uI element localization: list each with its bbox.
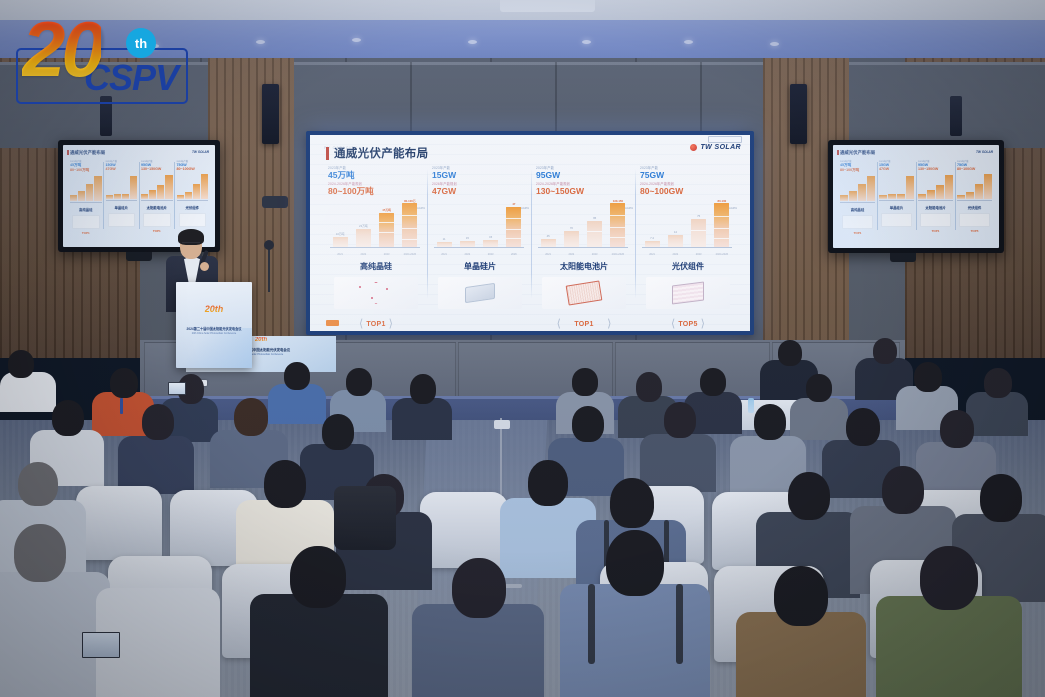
attendee-shoulders [0, 372, 56, 412]
x-tick: 2026 [504, 253, 524, 256]
attendee-head [8, 350, 34, 378]
attendee-head [142, 404, 174, 440]
attendee-head [290, 546, 346, 608]
x-tick: 2023 [377, 253, 397, 256]
attendee-shoulders [560, 584, 710, 697]
x-tick: 2024-2026 [712, 253, 732, 256]
slide-panel-wafer: 2023年产能 15GW 2026年产能规划 47GW CAGR% 11 15 … [428, 165, 532, 325]
tw-solar-mark-icon [690, 144, 697, 151]
tw-solar-wordmark: TW SOLAR [700, 144, 741, 151]
x-tick: 2021 [642, 253, 662, 256]
attendee-head [914, 362, 942, 392]
silicon-wafer-icon [881, 213, 912, 227]
slide-panel-polysilicon: 2023年产能 45万吨 2024-2026年产能规划 80~100万吨 CAG… [324, 165, 428, 325]
bar-value: 15 [489, 235, 492, 239]
podium-logo: 20th [205, 304, 224, 314]
loudspeaker-left [262, 84, 279, 144]
bar-value: 23万吨 [359, 224, 368, 228]
attendee-head [754, 404, 786, 440]
monitor-category: 光伏组件 [177, 205, 209, 210]
backpack-strap [676, 584, 683, 664]
x-tick: 2023 [585, 253, 605, 256]
monitor-brand: TW SOLAR [976, 150, 993, 154]
monitor-stand-right [890, 253, 916, 262]
slide-footer-chip [326, 320, 339, 326]
backpack [334, 486, 396, 550]
attendee-head [18, 462, 58, 506]
solar-cell-icon [143, 213, 171, 227]
slide-title: 通威光伏产能布局 [334, 145, 428, 161]
x-tick: 2023 [689, 253, 709, 256]
monitor-rank: TOP1 [141, 229, 173, 233]
attendee-head [14, 524, 66, 582]
paren-right: ⟩ [701, 320, 705, 329]
x-tick: 2022 [665, 253, 685, 256]
attendee-head [778, 340, 802, 366]
cspv-watermark-logo: CSPV 20 th [8, 4, 194, 108]
x-tick: 2024-2026 [608, 253, 628, 256]
logo-number: 20 [22, 10, 101, 88]
slide-panel-module: 2023年产能 75GW 2024-2026年产能规划 80~100GW CAG… [636, 165, 740, 325]
bar-value: 47 [512, 202, 515, 206]
attendee-shoulders [790, 398, 848, 440]
paren-left: ⟨ [359, 320, 363, 329]
attendee-shoulders [250, 594, 388, 697]
monitor-category: 单晶硅片 [106, 205, 138, 210]
panel-target-value: 80~100万吨 [328, 187, 424, 196]
paren-right: ⟩ [389, 320, 393, 329]
silicon-wafer-icon [438, 277, 522, 309]
downlight-icon [582, 40, 591, 44]
attendee-head [322, 414, 354, 450]
bar-value: 11 [443, 237, 446, 241]
attendee-head [452, 558, 506, 618]
monitor-target-value: 47GW [879, 167, 914, 171]
downlight-icon [770, 42, 779, 46]
polysilicon-icon [72, 215, 100, 229]
monitor-category: 太阳能电池片 [918, 205, 953, 210]
attendee-shoulders [966, 392, 1028, 436]
podium-title-cn: 2024第二十届中国太阳能光伏发电会议 [176, 326, 252, 331]
panel-bar-chart: CAGR% 11 15 15 47 2021 2022 [432, 199, 528, 251]
loudspeaker-right [790, 84, 807, 144]
solar-cell-icon [920, 213, 951, 227]
bar-value: 7.2 [650, 236, 654, 240]
monitor-rank: TOP1 [70, 231, 102, 235]
conference-photo: PV CAPACITY 通威光伏产能布局 TW SOLAR 2023年产能 45… [0, 0, 1045, 697]
podium: 20th 2024第二十届中国太阳能光伏发电会议 20th China Sola… [176, 282, 252, 368]
seat [420, 492, 508, 568]
attendee-shoulders [392, 398, 452, 440]
monitor-target-value: 80~100万吨 [70, 168, 102, 173]
attendee-head [788, 472, 830, 520]
monitor-brand: TW SOLAR [192, 150, 209, 154]
panel-target-value: 47GW [432, 187, 528, 196]
monitor-rank: TOP5 [957, 229, 992, 233]
loudspeaker-far-right [950, 96, 962, 136]
backpack-strap [588, 584, 595, 664]
attendee-head [806, 374, 832, 402]
rank-value: TOP5 [678, 321, 697, 328]
pv-module-icon [646, 277, 730, 309]
bar-value: 45万吨 [382, 208, 391, 212]
panel-category-name: 光伏组件 [640, 261, 736, 272]
monitor-target-value: 80~100GW [957, 167, 992, 171]
panel-rank-badge: ⟨ TOP5 全球前五 ⟩ [640, 313, 736, 331]
attendee-head [110, 368, 138, 398]
slide-title-group: 通威光伏产能布局 [326, 145, 428, 161]
attendee-head [264, 460, 306, 508]
monitor-stand-left [126, 252, 152, 261]
solar-cell-icon [542, 277, 626, 309]
downlight-icon [256, 40, 265, 44]
lanyard [120, 398, 123, 414]
attendee-head [346, 368, 372, 396]
logo-ordinal-badge: th [126, 28, 156, 58]
slide-panels: 2023年产能 45万吨 2024-2026年产能规划 80~100万吨 CAG… [324, 165, 740, 325]
attendee-head [664, 402, 696, 438]
polysilicon-icon [842, 215, 873, 229]
bar-value: 130-150 [613, 199, 623, 203]
paren-right: ⟩ [607, 320, 611, 329]
downlight-icon [468, 40, 477, 44]
slide-canvas: PV CAPACITY 通威光伏产能布局 TW SOLAR 2023年产能 45… [310, 135, 750, 331]
attendee-head [984, 368, 1012, 398]
attendee-shoulders [876, 596, 1022, 697]
phone-device [82, 632, 120, 658]
main-projection-screen: PV CAPACITY 通威光伏产能布局 TW SOLAR 2023年产能 45… [306, 131, 754, 335]
silicon-wafer-icon [108, 213, 136, 227]
bar-value: 10万吨 [336, 232, 345, 236]
panel-capacity-value: 45万吨 [328, 171, 424, 180]
paren-left: ⟨ [557, 320, 561, 329]
monitor-target-value: 130~150GW [141, 167, 173, 171]
attendee-head [940, 410, 974, 448]
monitor-category: 光伏组件 [957, 205, 992, 210]
side-monitor-right: 通威光伏产能布局 TW SOLAR 2023年产能 45万吨 80~100万吨 … [828, 140, 1004, 253]
monitor-target-value: 130~150GW [918, 167, 953, 171]
bar-value: 15 [466, 236, 469, 240]
panel-capacity-value: 95GW [536, 171, 632, 180]
mic-stand [268, 246, 270, 292]
attendee-head [234, 398, 268, 436]
x-tick: 2022 [561, 253, 581, 256]
attendee-head [528, 460, 568, 506]
x-tick: 2022 [353, 253, 373, 256]
attendee-head [572, 406, 604, 442]
rank-value: TOP1 [574, 321, 593, 328]
attendee-head [606, 530, 664, 596]
attendee-head [610, 478, 654, 528]
attendee-head [410, 374, 436, 404]
panel-target-value: 80~100GW [640, 187, 736, 196]
tw-solar-logo: TW SOLAR [690, 144, 741, 151]
x-tick: 2024-2026 [400, 253, 420, 256]
panel-rank-badge: ⟨ TOP1 全球电池出货量连续七年第一 ⟩ [536, 313, 632, 331]
panel-bar-chart: CAGR% 45 70 95 130-150 2021 2022 [536, 199, 632, 251]
downlight-icon [684, 40, 693, 44]
bar-value: 80-100 [718, 199, 727, 203]
bar-value: 45 [547, 234, 550, 238]
pv-module-icon [959, 213, 990, 227]
glasses-icon [182, 242, 200, 247]
x-tick: 2022 [457, 253, 477, 256]
title-accent-bar [326, 147, 329, 160]
attendee-head [636, 372, 662, 402]
attendee-head [700, 368, 726, 396]
floor-mic-head-icon [494, 420, 510, 429]
monitor-slide-title: 通威光伏产能布局 [840, 150, 875, 156]
attendee-head [920, 546, 978, 610]
attendee-head [572, 368, 598, 396]
monitor-target-value: 80~100万吨 [840, 168, 875, 173]
monitor-category: 单晶硅片 [879, 205, 914, 210]
panel-category-name: 单晶硅片 [432, 261, 528, 272]
attendee-shoulders [268, 384, 326, 424]
panel-capacity-value: 15GW [432, 171, 528, 180]
x-tick: 2023 [481, 253, 501, 256]
ceiling-projector [500, 0, 595, 12]
attendee-head [284, 362, 310, 390]
x-tick: 2021 [538, 253, 558, 256]
panel-rank-badge: ⟨ TOP1 全球第一 ⟩ [328, 313, 424, 331]
panel-capacity-value: 75GW [640, 171, 736, 180]
monitor-category: 太阳能电池片 [141, 205, 173, 210]
water-bottle [748, 398, 754, 413]
polysilicon-icon [334, 277, 418, 309]
attendee-head [980, 474, 1022, 522]
slide-top-badge [708, 136, 742, 143]
monitor-rank: TOP1 [840, 231, 875, 235]
monitor-rank: TOP1 [918, 229, 953, 233]
tablet-device [168, 382, 186, 395]
downlight-icon [352, 38, 361, 42]
panel-bar-chart: CAGR% 10万吨 23万吨 45万吨 80-100万 2021 2022 [328, 199, 424, 251]
attendee-head [52, 400, 84, 436]
bar-value: 80-100万 [404, 199, 416, 203]
mic-head-icon [264, 240, 274, 250]
seat [76, 486, 162, 560]
attendee-head [873, 338, 897, 364]
paren-left: ⟨ [671, 320, 675, 329]
monitor-category: 高纯晶硅 [70, 207, 102, 212]
attendee-head [774, 566, 828, 626]
bar-value: 75 [697, 214, 700, 218]
rank-value: TOP1 [366, 321, 385, 328]
x-tick: 2021 [330, 253, 350, 256]
attendee-head [882, 466, 924, 514]
monitor-category: 高纯晶硅 [840, 207, 875, 212]
x-tick: 2021 [434, 253, 454, 256]
camera-icon [262, 196, 288, 208]
podium-title-en: 20th China Solar Photovoltaic Conference [176, 332, 252, 335]
attendee-head [846, 408, 880, 446]
backdrop-logo: 20th [255, 337, 267, 343]
bar-value: 14 [674, 230, 677, 234]
speaker-hand [200, 262, 209, 271]
monitor-slide-title: 通威光伏产能布局 [70, 150, 105, 156]
bar-value: 70 [570, 226, 573, 230]
monitor-target-value: 47GW [106, 167, 138, 171]
monitor-target-value: 80~100GW [177, 167, 209, 171]
bar-value: 95 [593, 216, 596, 220]
panel-category-name: 太阳能电池片 [536, 261, 632, 272]
pv-module-icon [179, 213, 207, 227]
slide-panel-cell: 2023年产能 95GW 2024-2026年产能规划 130~150GW CA… [532, 165, 636, 325]
panel-target-value: 130~150GW [536, 187, 632, 196]
attendee-shoulders [640, 434, 716, 492]
panel-category-name: 高纯晶硅 [328, 261, 424, 272]
panel-bar-chart: CAGR% 7.2 14 75 80-100 2021 2022 [640, 199, 736, 251]
